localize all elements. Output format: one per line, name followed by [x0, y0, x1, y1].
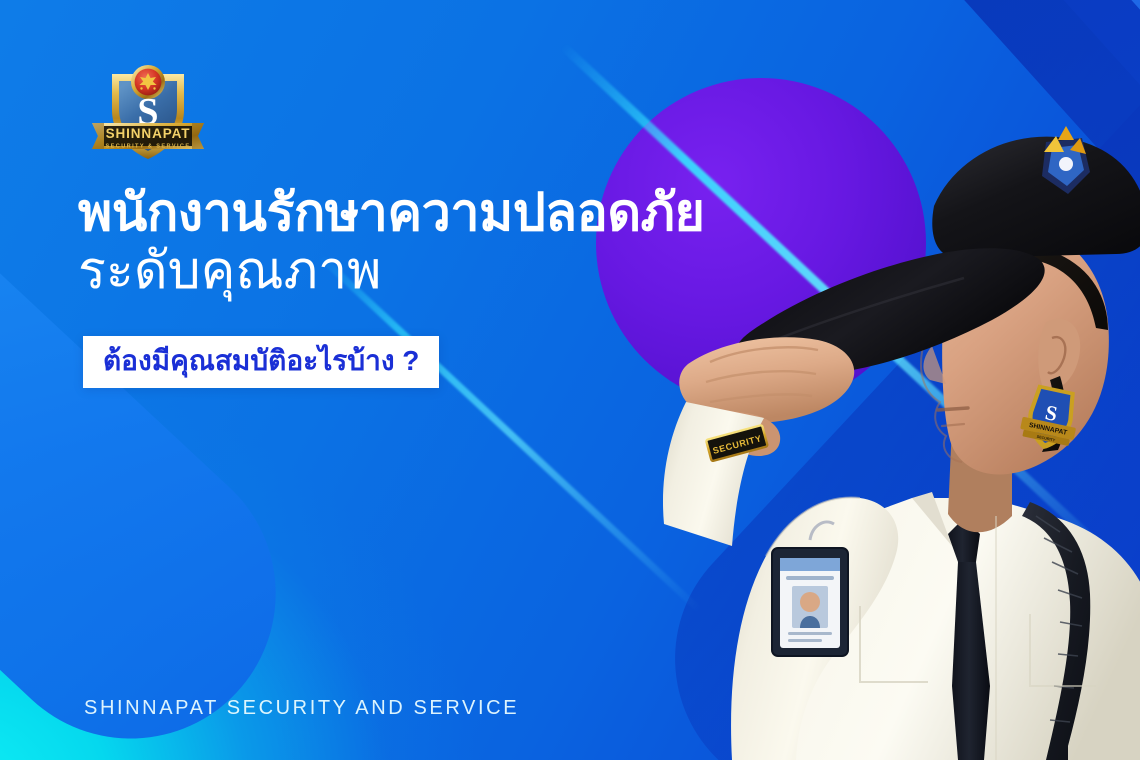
logo-tagline: SECURITY & SERVICE	[106, 144, 191, 150]
headline-line-1: พนักงานรักษาความปลอดภัย	[78, 186, 678, 241]
guard-forearm-sleeve	[663, 402, 764, 546]
subheadline-badge: ต้องมีคุณสมบัติอะไรบ้าง ?	[83, 336, 439, 388]
subheadline-text: ต้องมีคุณสมบัติอะไรบ้าง ?	[103, 344, 419, 378]
logo-brand-name: SHINNAPAT	[106, 126, 191, 141]
shield-logo-icon: S SHINNAPAT SECURITY & SERVICE	[84, 52, 212, 164]
footer-brand-text: SHINNAPAT SECURITY AND SERVICE	[84, 697, 519, 720]
headline-block: พนักงานรักษาความปลอดภัย ระดับคุณภาพ	[78, 186, 678, 302]
promotional-banner: SECURITY S SHINNAPAT	[0, 0, 1140, 760]
security-guard-photo: SECURITY S SHINNAPAT	[560, 46, 1140, 760]
headline-line-2: ระดับคุณภาพ	[78, 241, 678, 302]
guard-cap-crown	[932, 137, 1140, 258]
